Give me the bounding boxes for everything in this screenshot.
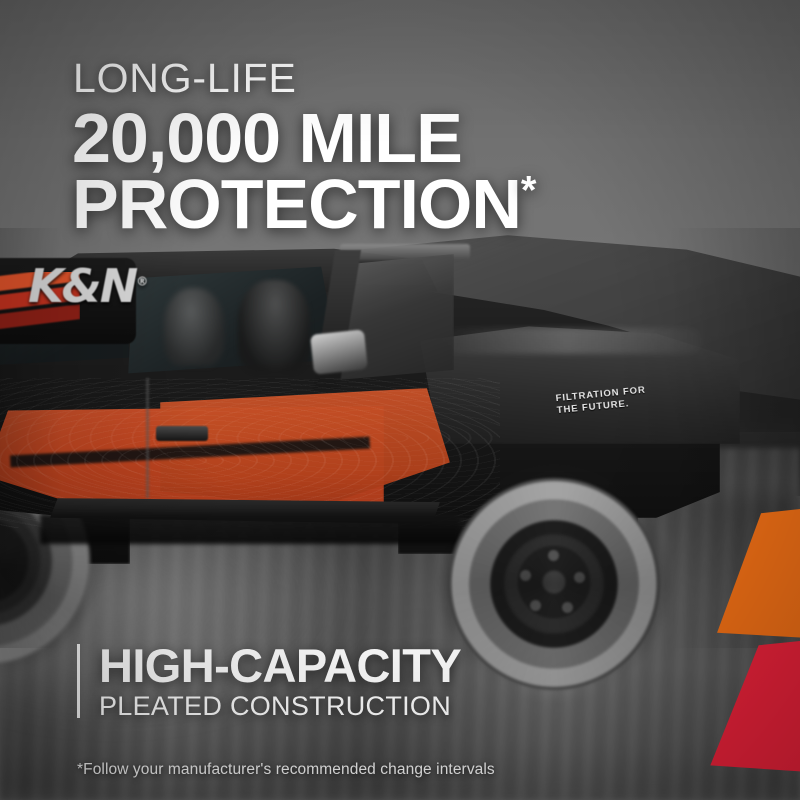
asterisk-marker: * bbox=[521, 168, 537, 212]
ad-creative-canvas: K&N® FILTRATION FOR THE FUTURE. LONG-LIF… bbox=[0, 0, 800, 800]
undercarriage-shadow bbox=[40, 514, 460, 544]
side-mirror bbox=[310, 329, 368, 374]
subhead-block: HIGH-CAPACITY PLEATED CONSTRUCTION bbox=[77, 642, 677, 720]
headline-line-2: PROTECTION* bbox=[72, 172, 732, 238]
legal-footnote: *Follow your manufacturer's recommended … bbox=[77, 761, 495, 779]
door-seam bbox=[146, 378, 149, 498]
subhead-accent-rule bbox=[77, 644, 80, 718]
subhead-title: HIGH-CAPACITY bbox=[99, 642, 677, 689]
headline-line-1: 20,000 MILE bbox=[72, 106, 732, 172]
kn-logo-wordmark: K&N® bbox=[28, 266, 146, 306]
hood-highlight bbox=[432, 328, 702, 354]
driver-silhouette bbox=[238, 280, 310, 372]
headline-kicker: LONG-LIFE bbox=[73, 58, 732, 99]
kn-logo-text: K&N bbox=[28, 259, 136, 313]
headline-line-2-text: PROTECTION bbox=[72, 165, 521, 243]
passenger-silhouette bbox=[164, 288, 224, 366]
door-handle bbox=[156, 426, 208, 441]
headline-block: LONG-LIFE 20,000 MILE PROTECTION* bbox=[72, 58, 732, 238]
registered-trademark-icon: ® bbox=[136, 275, 146, 289]
subhead-subtitle: PLEATED CONSTRUCTION bbox=[99, 693, 677, 720]
